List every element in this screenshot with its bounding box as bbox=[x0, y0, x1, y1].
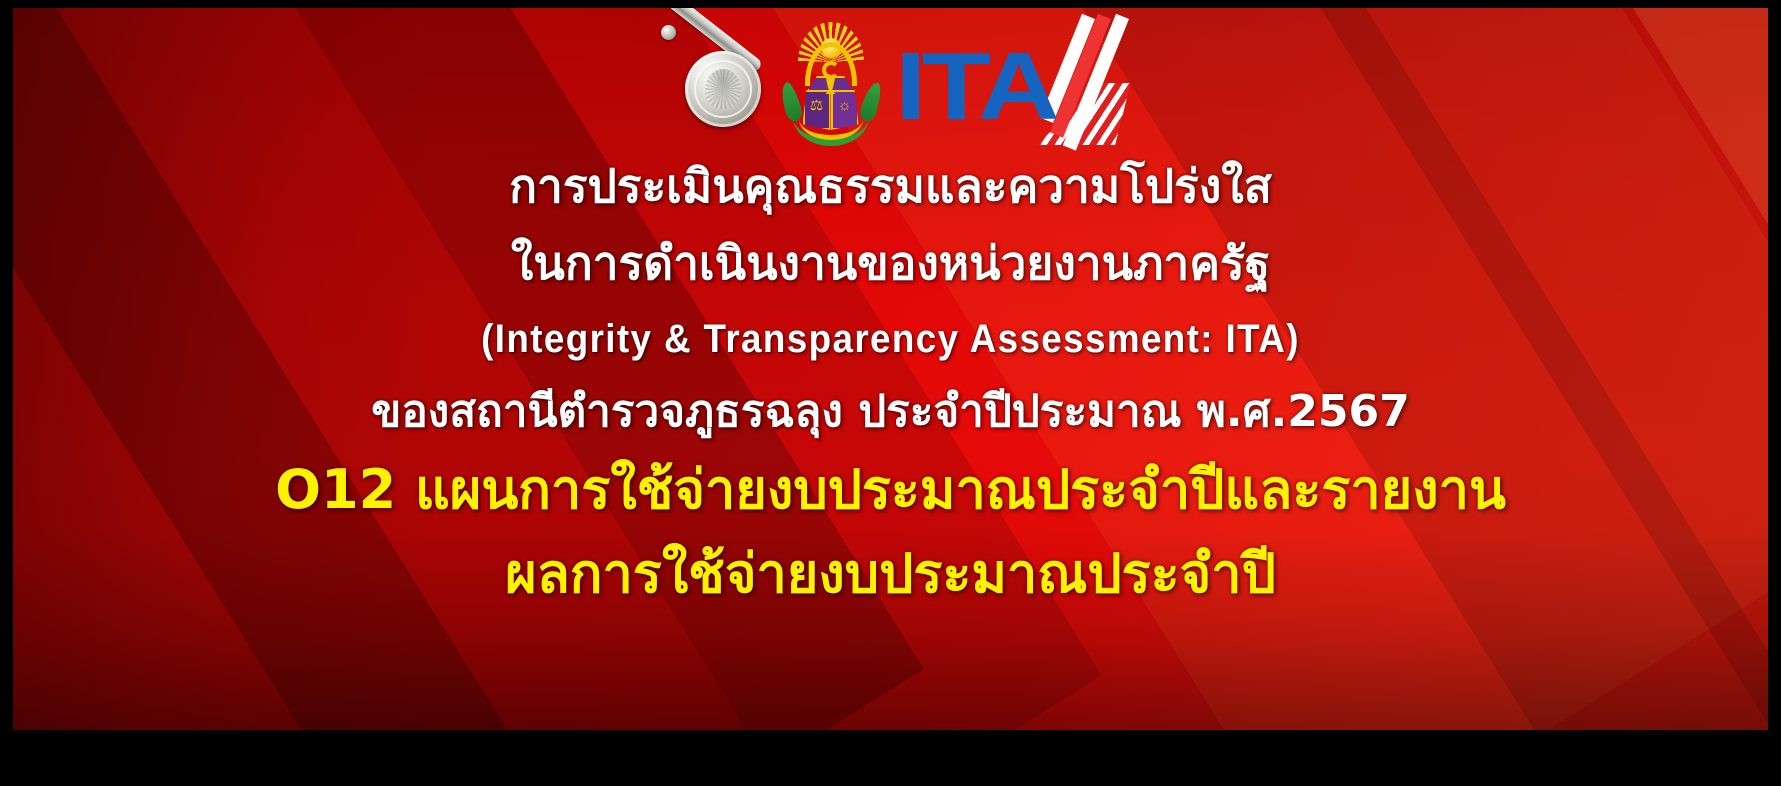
title-line-4-agency-year: ของสถานีตำรวจภูธรฉลุง ประจำปีประมาณ พ.ศ.… bbox=[13, 376, 1768, 448]
royal-scepter-seal-icon bbox=[655, 19, 775, 149]
subject-line-1: O12 แผนการใช้จ่ายงบประมาณประจำปีและรายงา… bbox=[13, 448, 1768, 532]
seal-disc bbox=[685, 51, 761, 127]
emblem-row: ⚖ ☼ ITA bbox=[13, 14, 1768, 154]
crest-ribbon bbox=[793, 117, 869, 146]
ita-wordmark: ITA bbox=[895, 39, 1055, 135]
title-line-3-english: (Integrity & Transparency Assessment: IT… bbox=[83, 302, 1698, 376]
title-line-1: การประเมินคุณธรรมและความโปร่งใส bbox=[13, 148, 1768, 224]
ita-logo: ITA bbox=[895, 25, 1127, 143]
subject-line-2: ผลการใช้จ่ายงบประมาณประจำปี bbox=[13, 532, 1768, 616]
title-line-2: ในการดำเนินงานของหน่วยงานภาครัฐ bbox=[13, 224, 1768, 302]
crest-scales-icon: ⚖ bbox=[809, 98, 825, 114]
scepter-knob bbox=[661, 25, 676, 40]
royal-thai-police-crest-icon: ⚖ ☼ bbox=[781, 18, 881, 150]
crest-wheel-icon: ☼ bbox=[837, 98, 853, 114]
title-text-block: การประเมินคุณธรรมและความโปร่งใส ในการดำเ… bbox=[13, 148, 1768, 616]
ita-banner-slide: ⚖ ☼ ITA การประเมินคุณธรรมและความโปร่งใส … bbox=[0, 0, 1781, 786]
red-background-stage: ⚖ ☼ ITA การประเมินคุณธรรมและความโปร่งใส … bbox=[13, 8, 1768, 730]
